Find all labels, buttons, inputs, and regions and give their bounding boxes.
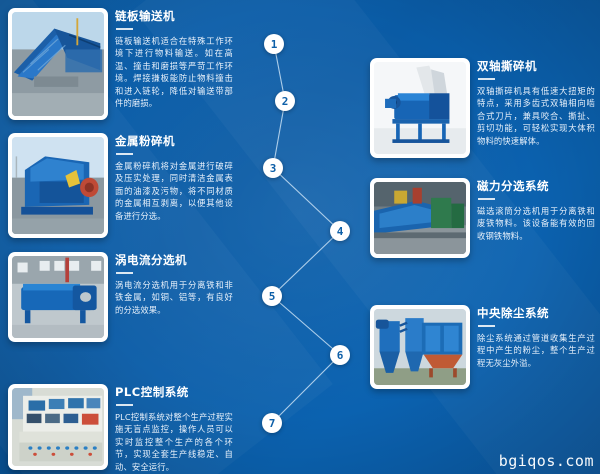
- step-badge-6[interactable]: 6: [330, 345, 350, 365]
- card-thumbnail[interactable]: [8, 384, 108, 470]
- photo-metal-crusher: [12, 137, 104, 234]
- step-badge-7[interactable]: 7: [262, 413, 282, 433]
- photo-twin-shaft-shredder: [374, 62, 466, 154]
- card-plc-control-system[interactable]: PLC控制系统 PLC控制系统对整个生产过程实施无盲点监控，操作人员可以实时监控…: [8, 384, 233, 470]
- title-underline: [116, 153, 133, 155]
- title-underline: [116, 404, 133, 406]
- card-text: 磁力分选系统 磁选滚筒分选机用于分离铁和废铁物料。该设备能有效的回收钢铁物料。: [477, 178, 595, 258]
- card-thumbnail[interactable]: [8, 133, 108, 238]
- title-underline: [478, 325, 495, 327]
- card-body: 涡电流分选机用于分离铁和非铁金属，如铜、铝等，有良好的分选效果。: [115, 279, 233, 316]
- card-body: 双轴撕碎机具有低速大扭矩的特点，采用多齿式双轴相向啮合式刀片，兼具咬合、撕扯、剪…: [477, 85, 595, 147]
- step-badge-3[interactable]: 3: [263, 158, 283, 178]
- card-thumbnail[interactable]: [370, 178, 470, 258]
- infographic-canvas: 链板输送机 链板输送机适合在特殊工作环境下进行物料输送。如在高温、撞击和磨损等严…: [0, 0, 600, 474]
- card-title: 链板输送机: [115, 9, 233, 23]
- card-title: 金属粉碎机: [115, 134, 233, 148]
- card-eddy-current-separator[interactable]: 涡电流分选机 涡电流分选机用于分离铁和非铁金属，如铜、铝等，有良好的分选效果。: [8, 252, 233, 342]
- card-text: 链板输送机 链板输送机适合在特殊工作环境下进行物料输送。如在高温、撞击和磨损等严…: [115, 8, 233, 120]
- card-body: PLC控制系统对整个生产过程实施无盲点监控，操作人员可以实时监控整个生产的各个环…: [115, 411, 233, 473]
- step-badge-5[interactable]: 5: [262, 286, 282, 306]
- card-thumbnail[interactable]: [8, 8, 108, 120]
- card-text: 涡电流分选机 涡电流分选机用于分离铁和非铁金属，如铜、铝等，有良好的分选效果。: [115, 252, 233, 342]
- card-title: 涡电流分选机: [115, 253, 233, 267]
- site-watermark: bgiqos.com: [499, 452, 594, 470]
- card-text: 中央除尘系统 除尘系统通过管道收集生产过程中产生的粉尘，整个生产过程无灰尘外溢。: [477, 305, 595, 389]
- card-body: 磁选滚筒分选机用于分离铁和废铁物料。该设备能有效的回收钢铁物料。: [477, 205, 595, 242]
- card-title: 双轴撕碎机: [477, 59, 595, 73]
- card-thumbnail[interactable]: [370, 58, 470, 158]
- card-thumbnail[interactable]: [370, 305, 470, 389]
- card-title: 中央除尘系统: [477, 306, 595, 320]
- card-body: 链板输送机适合在特殊工作环境下进行物料输送。如在高温、撞击和磨损等严苛工作环境。…: [115, 35, 233, 109]
- step-badge-4[interactable]: 4: [330, 221, 350, 241]
- card-text: PLC控制系统 PLC控制系统对整个生产过程实施无盲点监控，操作人员可以实时监控…: [115, 384, 233, 470]
- title-underline: [478, 198, 495, 200]
- step-badge-2[interactable]: 2: [275, 91, 295, 111]
- card-text: 双轴撕碎机 双轴撕碎机具有低速大扭矩的特点，采用多齿式双轴相向啮合式刀片，兼具咬…: [477, 58, 595, 158]
- title-underline: [116, 272, 133, 274]
- card-metal-crusher[interactable]: 金属粉碎机 金属粉碎机将对金属进行破碎及压实处理，同时清洁金属表面的油漆及污物，…: [8, 133, 233, 238]
- card-twin-shaft-shredder[interactable]: 双轴撕碎机 双轴撕碎机具有低速大扭矩的特点，采用多齿式双轴相向啮合式刀片，兼具咬…: [370, 58, 595, 158]
- photo-chain-plate-conveyor: [12, 12, 104, 116]
- card-text: 金属粉碎机 金属粉碎机将对金属进行破碎及压实处理，同时清洁金属表面的油漆及污物，…: [115, 133, 233, 238]
- title-underline: [116, 28, 133, 30]
- card-thumbnail[interactable]: [8, 252, 108, 342]
- step-badge-1[interactable]: 1: [264, 34, 284, 54]
- card-title: 磁力分选系统: [477, 179, 595, 193]
- title-underline: [478, 78, 495, 80]
- photo-central-dust-removal-system: [374, 309, 466, 385]
- photo-magnetic-separation-system: [374, 182, 466, 254]
- card-body: 除尘系统通过管道收集生产过程中产生的粉尘，整个生产过程无灰尘外溢。: [477, 332, 595, 369]
- card-magnetic-separation-system[interactable]: 磁力分选系统 磁选滚筒分选机用于分离铁和废铁物料。该设备能有效的回收钢铁物料。: [370, 178, 595, 258]
- card-body: 金属粉碎机将对金属进行破碎及压实处理，同时清洁金属表面的油漆及污物，将不同材质的…: [115, 160, 233, 222]
- photo-plc-control-system: [12, 388, 104, 466]
- photo-eddy-current-separator: [12, 256, 104, 338]
- card-central-dust-removal-system[interactable]: 中央除尘系统 除尘系统通过管道收集生产过程中产生的粉尘，整个生产过程无灰尘外溢。: [370, 305, 595, 389]
- card-title: PLC控制系统: [115, 385, 233, 399]
- card-chain-plate-conveyor[interactable]: 链板输送机 链板输送机适合在特殊工作环境下进行物料输送。如在高温、撞击和磨损等严…: [8, 8, 233, 120]
